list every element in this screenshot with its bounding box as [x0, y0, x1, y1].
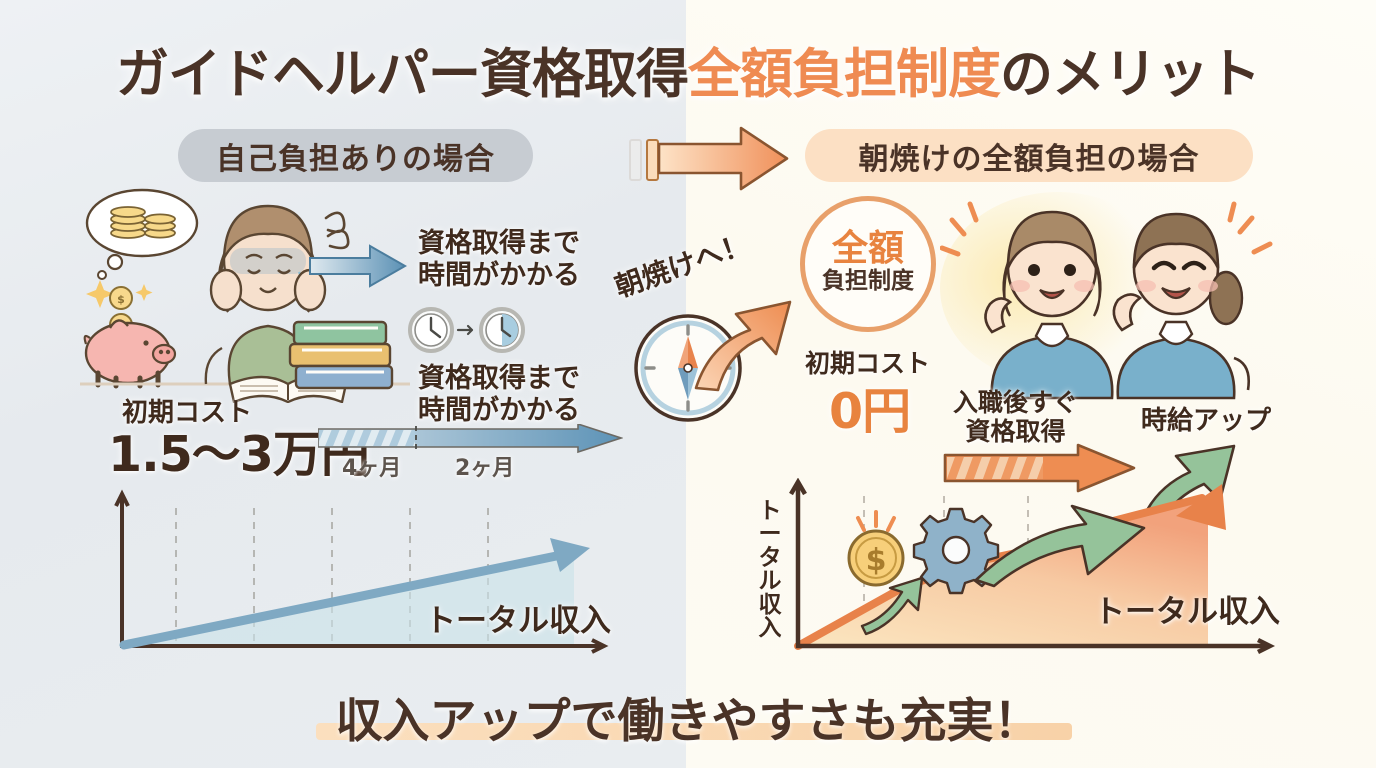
badge-self-pay-label: 自己負担ありの場合 [216, 134, 495, 178]
title-part-1: ガイドヘルパー資格取得 [116, 44, 688, 105]
coin-dollar-icon: $ [849, 512, 903, 585]
svg-text:$: $ [117, 293, 125, 306]
happy-nurses-illustration [940, 182, 1280, 402]
worried-woman-illustration: $ $ [80, 188, 410, 403]
orange-up-arrow-icon [690, 288, 802, 396]
arrow-right-icon [458, 326, 472, 334]
infographic-canvas: ガイドヘルパー資格取得全額負担制度のメリット 自己負担ありの場合 朝焼けの全額負… [0, 0, 1376, 768]
footer-text: 収入アップで働きやすさも充実！ [336, 694, 1041, 749]
circle-badge-bottom: 負担制度 [822, 267, 914, 297]
clock-icon [410, 309, 452, 351]
delay-text-bottom-line2: 時間がかかる [418, 395, 580, 427]
badge-self-pay: 自己負担ありの場合 [178, 129, 533, 182]
right-cost-value: 0円 [829, 372, 910, 443]
blue-arrow-icon [308, 243, 408, 289]
clock-progress-group [408, 306, 526, 354]
left-chart-label: トータル収入 [425, 595, 611, 640]
delay-text-top-line2: 時間がかかる [418, 260, 580, 292]
thought-bubble-coins-icon [87, 190, 197, 279]
book-stack-icon [290, 322, 392, 388]
timeline-label-4months: 4ヶ月 [342, 450, 401, 482]
benefit-label-quick-cert: 入職後すぐ 資格取得 [953, 389, 1078, 447]
delay-text-bottom: 資格取得まで 時間がかかる [418, 363, 580, 427]
footer: 収入アップで働きやすさも充実！ [0, 682, 1376, 751]
page-title: ガイドヘルパー資格取得全額負担制度のメリット [0, 32, 1376, 108]
delay-text-top-line1: 資格取得まで [418, 228, 580, 260]
svg-text:$: $ [866, 543, 887, 578]
timeline-label-2months: 2ヶ月 [455, 450, 514, 482]
delay-text-top: 資格取得まで 時間がかかる [418, 228, 580, 292]
piggy-bank-icon [85, 320, 175, 386]
title-part-accent: 全額負担制度 [688, 44, 1000, 105]
full-coverage-circle-badge: 全額 負担制度 [800, 196, 936, 332]
clock-progress-icon [481, 309, 523, 351]
badge-full-coverage: 朝焼けの全額負担の場合 [805, 129, 1253, 182]
circle-badge-top: 全額 [832, 231, 904, 267]
green-arrow-large-icon [972, 500, 1152, 590]
benefit-label-quick-cert-line1: 入職後すぐ [953, 389, 1078, 418]
title-part-3: のメリット [1000, 44, 1260, 105]
right-chart-label: トータル収入 [1094, 586, 1280, 631]
transition-bar-1 [629, 139, 642, 181]
badge-full-coverage-label: 朝焼けの全額負担の場合 [859, 134, 1200, 178]
delay-text-bottom-line1: 資格取得まで [418, 363, 580, 395]
transition-arrow-icon [655, 124, 791, 193]
